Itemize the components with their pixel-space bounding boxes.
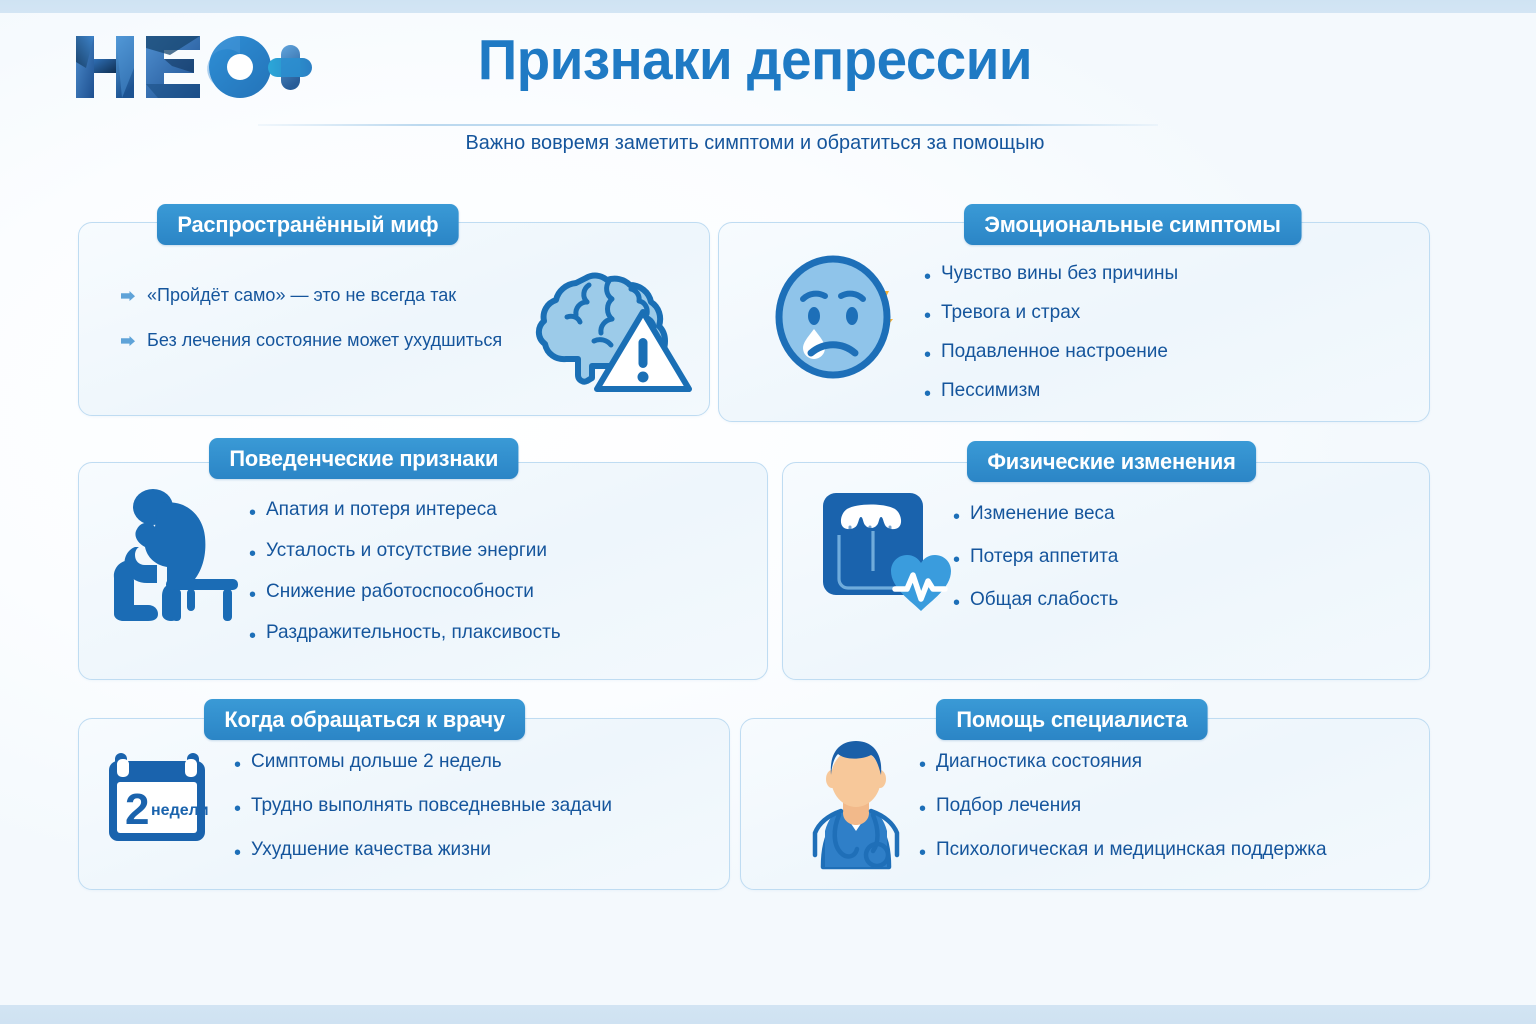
card-myth-badge: Распространённый миф	[157, 204, 459, 245]
list-item-text: Диагностика состояния	[936, 751, 1142, 773]
list-item: • Пессимизм	[924, 380, 1184, 404]
card-when-to-see-doctor: Когда обращаться к врачу • Симптомы доль…	[78, 718, 730, 890]
card-specialist-help-badge: Помощь специалиста	[936, 699, 1208, 740]
list-item-text: «Пройдёт само» — это не всегда так	[147, 285, 456, 306]
sad-face-lightning-icon	[771, 253, 911, 383]
page-title: Признаки депрессии	[376, 28, 1134, 94]
doctor-icon	[789, 739, 924, 869]
list-item-text: Усталость и отсутствие энергии	[266, 540, 547, 562]
card-behavioral: Поведенческие признаки • Апатия и потеря…	[78, 462, 768, 680]
list-item-text: Общая слабость	[970, 589, 1118, 611]
list-item: • Потеря аппетита	[953, 546, 1122, 570]
dot-bullet-icon: •	[234, 799, 241, 819]
bottom-accent-band	[0, 1005, 1536, 1024]
header-divider	[258, 124, 1158, 126]
list-item-text: Подавленное настроение	[941, 341, 1168, 363]
card-specialist-help: Помощь специалиста • Диагностика состоян…	[740, 718, 1430, 890]
list-item: • Подавленное настроение	[924, 341, 1184, 365]
dot-bullet-icon: •	[249, 626, 256, 646]
card-myth-bullets: «Пройдёт само» — это не всегда так Без л…	[121, 285, 511, 350]
dot-bullet-icon: •	[924, 384, 931, 404]
infographic-page: Признаки депрессии Важно вовремя заметит…	[0, 0, 1536, 1024]
list-item: • Усталость и отсутствие энергии	[249, 540, 568, 564]
dot-bullet-icon: •	[924, 345, 931, 365]
list-item-text: Снижение работоспособности	[266, 581, 534, 603]
calendar-caption: недели	[151, 802, 209, 819]
card-emotional-bullets: • Чувство вины без причины • Тревога и с…	[924, 263, 1184, 404]
card-myth: Распространённый миф «Пройдёт само» — эт…	[78, 222, 710, 416]
list-item-text: Потеря аппетита	[970, 546, 1118, 568]
card-when-to-see-doctor-badge: Когда обращаться к врачу	[204, 699, 525, 740]
list-item-text: Без лечения состояние может ухудшиться	[147, 330, 502, 351]
calendar-number: 2	[125, 785, 149, 834]
dot-bullet-icon: •	[249, 544, 256, 564]
arrow-bullet-icon	[121, 291, 135, 302]
list-item: Без лечения состояние может ухудшиться	[121, 330, 511, 351]
list-item-text: Раздражительность, плаксивость	[266, 622, 561, 644]
card-physical-badge: Физические изменения	[967, 441, 1256, 482]
list-item: • Подбор лечения	[919, 795, 1337, 819]
list-item: • Апатия и потеря интереса	[249, 499, 568, 523]
dot-bullet-icon: •	[953, 550, 960, 570]
list-item: • Трудно выполнять повседневные задачи	[234, 795, 621, 819]
dot-bullet-icon: •	[924, 267, 931, 287]
arrow-bullet-icon	[121, 336, 135, 347]
dot-bullet-icon: •	[924, 306, 931, 326]
dot-bullet-icon: •	[953, 593, 960, 613]
list-item: • Изменение веса	[953, 503, 1122, 527]
list-item-text: Психологическая и медицинская поддержка	[936, 839, 1327, 861]
dot-bullet-icon: •	[953, 507, 960, 527]
card-physical-bullets: • Изменение веса • Потеря аппетита • Общ…	[953, 503, 1122, 613]
list-item-text: Чувство вины без причины	[941, 263, 1178, 285]
list-item-text: Пессимизм	[941, 380, 1040, 402]
list-item: • Общая слабость	[953, 589, 1122, 613]
list-item: • Раздражительность, плаксивость	[249, 622, 568, 646]
dot-bullet-icon: •	[249, 585, 256, 605]
list-item-text: Тревога и страх	[941, 302, 1080, 324]
brain-warning-icon	[531, 255, 691, 390]
list-item: • Симптомы дольше 2 недель	[234, 751, 621, 775]
list-item-text: Апатия и потеря интереса	[266, 499, 497, 521]
list-item: • Психологическая и медицинская поддержк…	[919, 839, 1337, 863]
card-physical: Физические изменения • Изменение веса • …	[782, 462, 1430, 680]
calendar-two-weeks-icon: 2 недели	[107, 749, 219, 849]
list-item-text: Трудно выполнять повседневные задачи	[251, 795, 612, 817]
weight-scale-heart-icon	[819, 487, 949, 617]
card-when-to-see-doctor-bullets: • Симптомы дольше 2 недель • Трудно выпо…	[234, 751, 621, 863]
list-item-text: Подбор лечения	[936, 795, 1081, 817]
list-item-text: Симптомы дольше 2 недель	[251, 751, 502, 773]
dot-bullet-icon: •	[234, 843, 241, 863]
page-subtitle: Важно вовремя заметить симптоми и обрати…	[372, 131, 1138, 155]
card-behavioral-badge: Поведенческие признаки	[209, 438, 519, 479]
list-item: «Пройдёт само» — это не всегда так	[121, 285, 511, 306]
list-item: • Снижение работоспособности	[249, 581, 568, 605]
slumped-person-icon	[111, 485, 241, 621]
list-item: • Диагностика состояния	[919, 751, 1337, 775]
dot-bullet-icon: •	[249, 503, 256, 523]
dot-bullet-icon: •	[234, 755, 241, 775]
list-item: • Ухудшение качества жизни	[234, 839, 621, 863]
card-specialist-help-bullets: • Диагностика состояния • Подбор лечения…	[919, 751, 1337, 863]
list-item: • Чувство вины без причины	[924, 263, 1184, 287]
list-item-text: Ухудшение качества жизни	[251, 839, 491, 861]
page-header: Признаки депрессии Важно вовремя заметит…	[0, 0, 1536, 182]
brand-logo	[72, 28, 312, 106]
list-item: • Тревога и страх	[924, 302, 1184, 326]
card-behavioral-bullets: • Апатия и потеря интереса • Усталость и…	[249, 499, 568, 646]
card-emotional-badge: Эмоциональные симптомы	[964, 204, 1301, 245]
card-emotional: Эмоциональные симптомы • Чувство вины бе…	[718, 222, 1430, 422]
list-item-text: Изменение веса	[970, 503, 1115, 525]
